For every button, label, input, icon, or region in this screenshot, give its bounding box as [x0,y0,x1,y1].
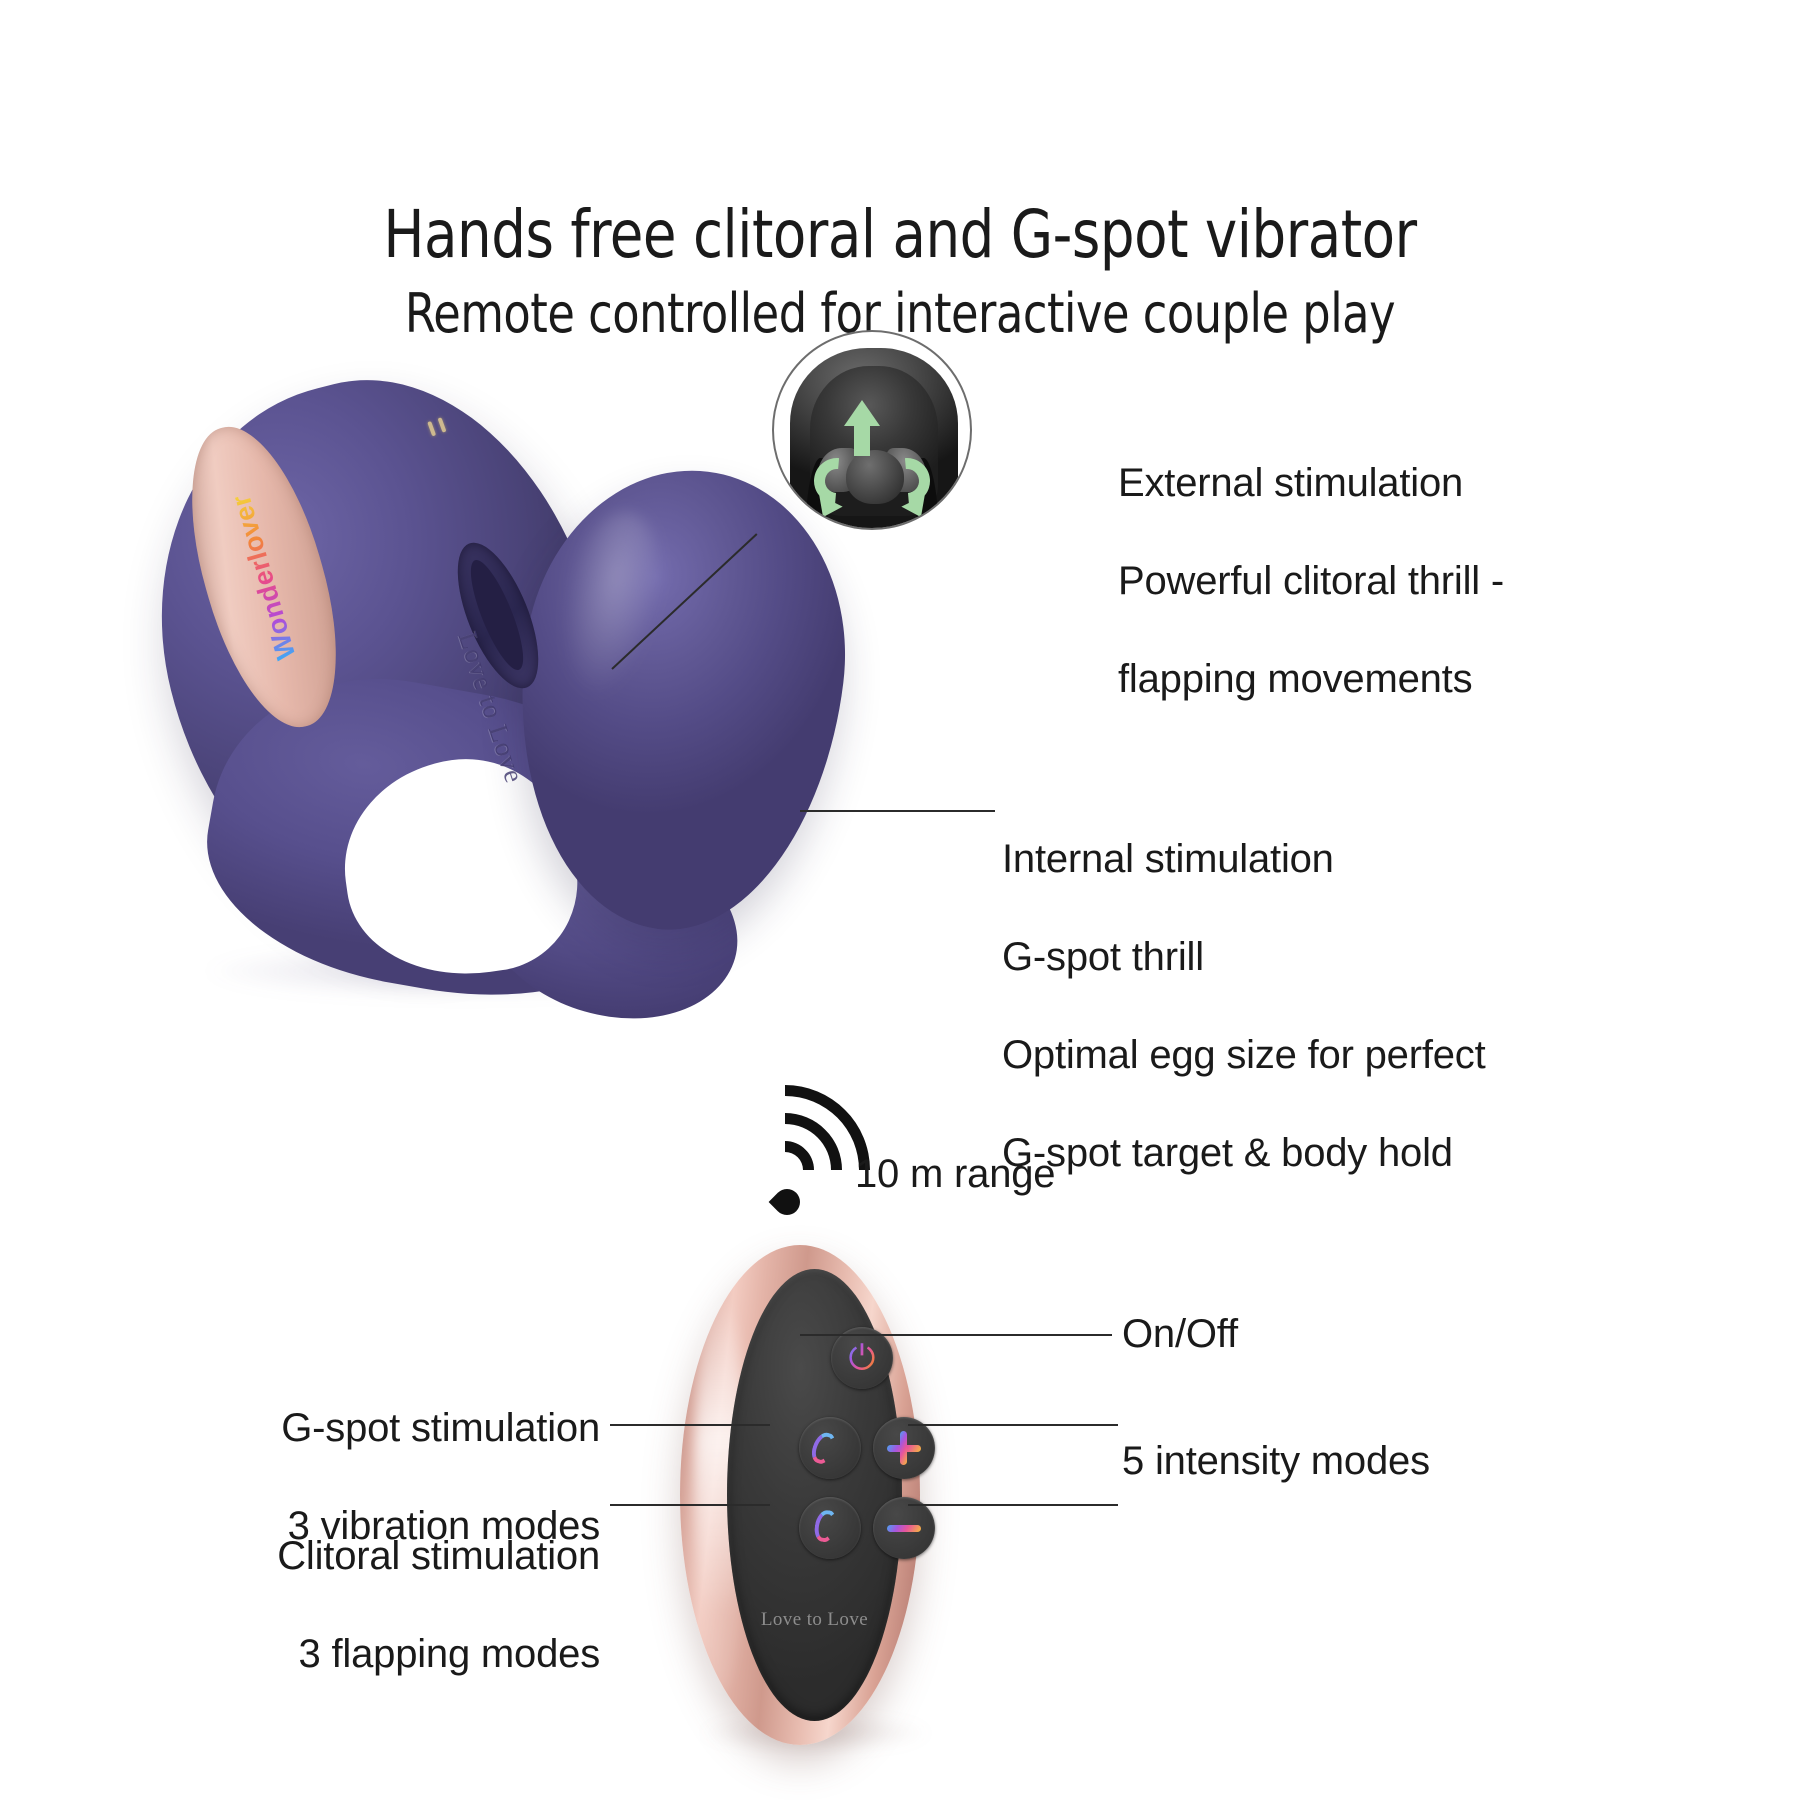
plus-icon [887,1431,921,1465]
callout-intensity-modes: 5 intensity modes [1122,1437,1430,1486]
infographic-canvas: Hands free clitoral and G-spot vibrator … [0,0,1800,1800]
callout-gspot-line1: G-spot stimulation [180,1404,600,1453]
power-button[interactable]: ⏻ [831,1327,893,1389]
callout-clitoral-modes: Clitoral stimulation 3 flapping modes [180,1483,600,1728]
callout-clitoral-line1: Clitoral stimulation [180,1532,600,1581]
callout-external-line1: External stimulation [1118,459,1504,508]
callout-internal-stimulation: Internal stimulation G-spot thrill Optim… [1002,786,1486,1227]
intensity-down-button[interactable] [873,1497,935,1559]
remote-control: ⏻ Love to Love [680,1245,920,1745]
power-icon: ⏻ [849,1341,876,1375]
callout-range: 10 m range [855,1150,1055,1199]
callout-internal-line1: Internal stimulation [1002,835,1486,884]
leader-line-internal [800,810,995,812]
page-title: Hands free clitoral and G-spot vibrator [72,196,1728,273]
callout-internal-line4: G-spot target & body hold [1002,1129,1486,1178]
clitoral-flapping-icon [812,1510,848,1546]
remote-panel: ⏻ Love to Love [727,1269,902,1721]
leader-line-clitoral [610,1504,770,1506]
callout-internal-line3: Optimal egg size for perfect [1002,1031,1486,1080]
callout-on-off: On/Off [1122,1310,1238,1359]
gspot-vibration-icon [812,1430,848,1466]
leader-line-gspot [610,1424,770,1426]
callout-external-line2: Powerful clitoral thrill - [1118,557,1504,606]
callout-external-stimulation: External stimulation Powerful clitoral t… [1118,410,1504,753]
clitoral-mode-button[interactable] [799,1497,861,1559]
callout-external-line3: flapping movements [1118,655,1504,704]
leader-line-intensity-up [908,1424,1118,1426]
intensity-up-button[interactable] [873,1417,935,1479]
leader-line-intensity-down [908,1504,1118,1506]
leader-line-power [800,1334,1112,1336]
callout-internal-line2: G-spot thrill [1002,933,1486,982]
gspot-mode-button[interactable] [799,1417,861,1479]
callout-clitoral-line2: 3 flapping modes [180,1630,600,1679]
brand-logo-wonderlover: Wonderlover [226,491,303,663]
minus-icon [887,1511,921,1545]
remote-brand-label: Love to Love [727,1609,902,1631]
magnifier-external-detail [772,330,972,530]
